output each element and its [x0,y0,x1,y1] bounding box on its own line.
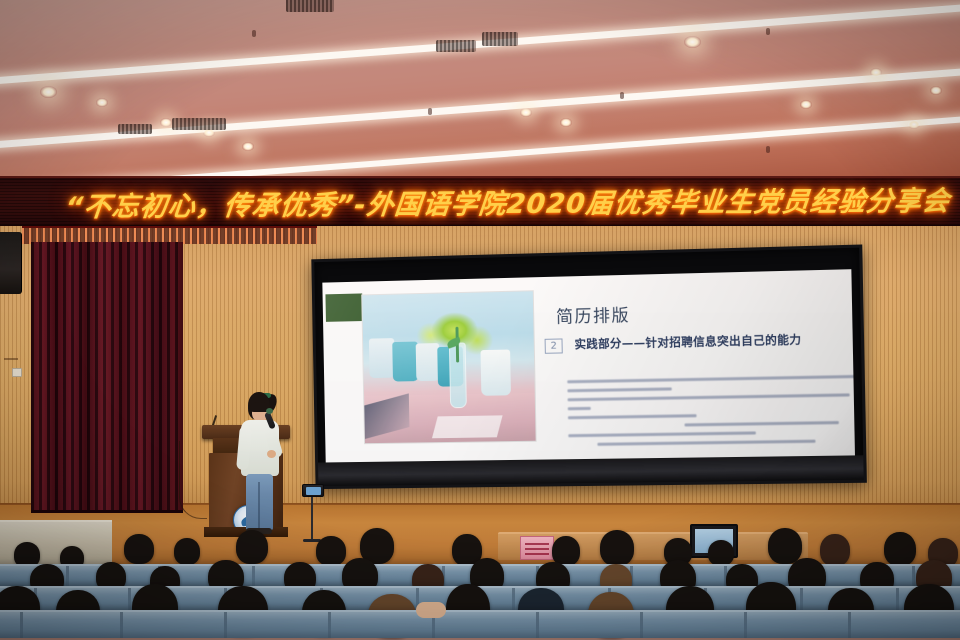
ceiling-sprinkler [766,28,770,35]
speaker-person [236,392,282,535]
ceiling-spotlight [160,118,172,127]
ceiling-spotlight [96,98,108,107]
ceiling-vent [118,124,152,134]
ceiling-spotlight [870,68,882,77]
photo-napkin [432,415,503,438]
presentation-slide: 简历排版 2 实践部分——针对招聘信息突出自己的能力 [322,269,855,462]
ceiling-sprinkler [766,146,770,153]
slide-text-line [568,414,696,419]
ceiling-sprinkler [252,30,256,37]
ceiling-spotlight [40,86,57,98]
photo-cup [416,343,440,381]
ceiling-light-strip-1 [0,0,960,86]
ceiling-spotlight [684,36,701,48]
led-banner-text: “不忘初心，传承优秀”-外国语学院2020届优秀毕业生党员经验分享会 [64,179,953,224]
audience-arm [416,602,446,618]
audience-head [708,540,734,566]
speaker-jeans [246,474,273,530]
slide-text-line [568,431,755,437]
audience-head [600,530,634,566]
slide-text-line [567,375,855,383]
slide-text-line [568,393,850,401]
slide-photo-flowers [361,290,536,444]
ceiling-light-strip-3 [0,112,960,176]
ceiling-spotlight [800,100,812,109]
audience-head [316,536,346,566]
slide-section-row: 2 实践部分——针对招聘信息突出自己的能力 [545,331,802,353]
slide-title: 简历排版 [556,301,630,328]
ceiling-vent [436,40,476,52]
slide-text-line [685,421,839,426]
audience-head [236,530,268,564]
slide-text-line [597,440,815,446]
seat-row-front[interactable] [0,610,960,638]
speaker-hand [267,450,276,458]
auditorium-photo: “不忘初心，传承优秀”-外国语学院2020届优秀毕业生党员经验分享会 [0,0,960,640]
ceiling-vent [172,118,226,130]
slide-text-line [567,387,672,392]
photo-cup [392,342,418,382]
slide-body-text [567,375,855,452]
ceiling-vent [286,0,334,12]
audience-head [124,534,154,564]
slide-section-number: 2 [545,338,563,353]
phone-screen [306,487,321,495]
slide-text-line [568,407,591,410]
photo-cup [481,350,511,396]
projection-screen: 简历排版 2 实践部分——针对招聘信息突出自己的能力 [311,244,867,489]
ceiling-spotlight [908,120,920,129]
podium-cable [179,441,207,519]
projection-screen-surface: 简历排版 2 实践部分——针对招聘信息突出自己的能力 [322,269,855,462]
ceiling-spotlight [930,86,942,95]
ceiling-spotlight [520,108,532,117]
audience-head [768,528,802,564]
desk-sign [520,536,554,560]
audience-head [820,534,850,566]
audience-head [884,532,916,566]
photo-cup [369,338,395,378]
ceiling [0,0,960,176]
ceiling-sprinkler [620,92,624,99]
audience-area [0,528,960,640]
phone-device [302,484,324,497]
ceiling-vent [482,32,518,46]
stage-curtain [31,242,183,513]
ceiling-spotlight [560,118,572,127]
wall-bracket [4,358,18,360]
microphone-head-icon [266,408,273,414]
slide-section-heading: 实践部分——针对招聘信息突出自己的能力 [574,331,801,353]
led-banner: “不忘初心，传承优秀”-外国语学院2020届优秀毕业生党员经验分享会 [0,176,960,226]
ceiling-sprinkler [428,108,432,115]
wall-speaker-box [0,232,22,294]
audience-head [174,538,200,565]
ceiling-light-strip-2 [0,64,960,150]
wall-switch-panel[interactable] [12,368,22,377]
ceiling-spotlight [242,142,254,151]
slide-accent-block [325,293,362,321]
